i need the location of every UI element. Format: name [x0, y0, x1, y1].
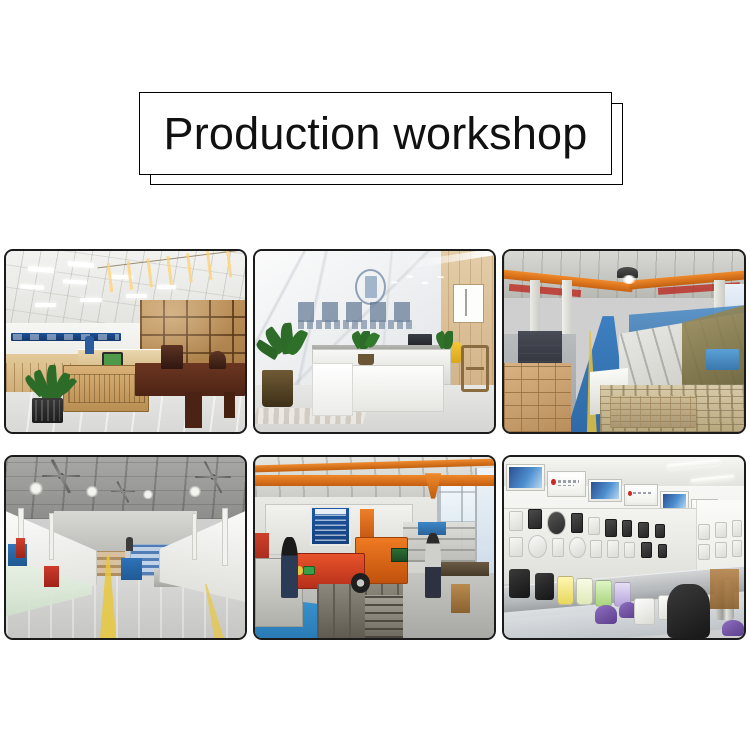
ceiling-fan — [195, 470, 231, 484]
photo-3-scene — [504, 251, 744, 432]
wall-dispenser — [588, 517, 600, 535]
photo-6-scene — [504, 457, 744, 638]
ceiling-fan — [111, 486, 135, 497]
high-bay-light — [622, 275, 636, 284]
tyre — [351, 573, 370, 593]
gallery-photo-1[interactable] — [4, 249, 247, 434]
company-logo-mark — [365, 276, 377, 298]
blue-equipment — [706, 349, 740, 371]
pendant-lamp — [85, 486, 99, 497]
wall-dispenser — [638, 522, 649, 538]
light-box-image — [509, 467, 541, 488]
pendant-lamp — [188, 486, 202, 497]
wall-dispenser — [732, 540, 742, 556]
wall-art-frame — [453, 284, 484, 324]
wall-dispenser — [552, 538, 564, 556]
wall-dispenser — [590, 540, 602, 558]
wall-dispenser — [698, 544, 710, 560]
wall-dispenser — [605, 519, 617, 537]
wall-dispenser — [624, 542, 635, 558]
chemical-bottle — [557, 576, 574, 605]
cardboard-cartons — [504, 363, 571, 432]
information-board-header — [315, 509, 346, 514]
red-item — [16, 538, 26, 558]
wall-dispenser — [732, 520, 742, 536]
bench-post — [222, 508, 228, 566]
worker — [281, 537, 298, 599]
gallery-photo-6[interactable] — [502, 455, 746, 640]
photo-5-scene — [255, 457, 494, 638]
person — [85, 336, 95, 354]
person — [126, 537, 133, 551]
photo-2-scene — [255, 251, 494, 432]
wall-dispenser — [509, 511, 523, 531]
wall-dispenser — [658, 544, 668, 558]
pendant-lamp — [142, 490, 154, 499]
wall-dispenser — [641, 542, 652, 558]
red-step-stool — [44, 566, 58, 588]
brand-logo-icon — [551, 479, 556, 486]
ceiling-lamp — [126, 294, 148, 298]
light-box-panel — [588, 479, 622, 503]
plant-pot — [32, 398, 63, 423]
ceiling-lamp — [35, 303, 57, 307]
wall-dispenser — [607, 540, 619, 558]
wooden-armchair — [461, 345, 490, 392]
bench-post — [192, 513, 197, 560]
packaged-goods — [610, 396, 696, 429]
ceiling-lamp — [80, 298, 102, 302]
control-panel — [391, 548, 408, 562]
dark-wood-table — [135, 363, 245, 396]
photo-1-scene — [6, 251, 245, 432]
ceiling-fan — [42, 468, 80, 484]
signage-english-text — [298, 320, 413, 329]
light-box-image — [663, 494, 686, 508]
chemical-bottle — [595, 580, 612, 607]
plant-pot — [358, 354, 375, 365]
gallery-photo-2[interactable] — [253, 249, 496, 434]
purple-basin — [595, 605, 617, 623]
light-box-panel — [624, 484, 658, 506]
waste-bin — [509, 569, 531, 598]
wall-dispenser — [622, 520, 633, 536]
table-ornament — [161, 345, 183, 369]
title-box: Production workshop — [139, 92, 612, 175]
white-bin — [634, 598, 656, 625]
chemical-bottle — [576, 578, 593, 605]
light-box-panel — [547, 471, 585, 496]
wall-dispenser — [715, 542, 727, 558]
worker — [425, 533, 442, 598]
light-box-image — [591, 482, 619, 500]
signage-chinese-text — [298, 302, 413, 322]
photo-4-scene — [6, 457, 245, 638]
gallery-photo-5[interactable] — [253, 455, 496, 640]
machine-control-panel — [303, 566, 315, 575]
page-title: Production workshop — [163, 111, 587, 156]
work-table — [437, 562, 490, 576]
header-area: Production workshop — [0, 0, 750, 230]
metal-mould — [365, 595, 403, 638]
light-box-text — [558, 485, 575, 487]
page-root: Production workshop — [0, 0, 750, 742]
wall-dispenser — [655, 524, 665, 538]
wall-dispenser — [571, 513, 583, 533]
waste-bin — [535, 573, 554, 600]
wall-dispenser — [698, 524, 710, 540]
table-leg — [185, 392, 202, 428]
neon-wave-light — [379, 265, 455, 294]
table-leg — [224, 392, 236, 417]
overhead-crane-beam — [255, 475, 494, 486]
wall-dispenser — [715, 522, 727, 538]
pendant-lamp — [28, 482, 45, 495]
purple-basin — [722, 620, 744, 636]
reception-desk-left — [312, 363, 353, 415]
production-workshop-gallery — [4, 249, 746, 640]
wall-dispenser — [528, 509, 542, 529]
office-chair — [667, 584, 710, 638]
wall-dispenser — [509, 537, 523, 557]
wooden-stool — [451, 584, 470, 613]
wall-signage-band — [11, 333, 121, 341]
bench-post — [49, 513, 54, 560]
gallery-photo-4[interactable] — [4, 455, 247, 640]
gallery-photo-3[interactable] — [502, 249, 746, 434]
brand-logo-icon — [628, 491, 632, 497]
blue-bin — [121, 558, 143, 580]
light-box-text — [633, 492, 651, 494]
light-box-panel — [506, 464, 544, 491]
table-ornament — [209, 351, 226, 369]
plant-pot — [262, 370, 293, 406]
wooden-chair — [710, 569, 739, 609]
wall-dispenser-round — [569, 537, 586, 559]
light-box-text — [558, 480, 579, 482]
